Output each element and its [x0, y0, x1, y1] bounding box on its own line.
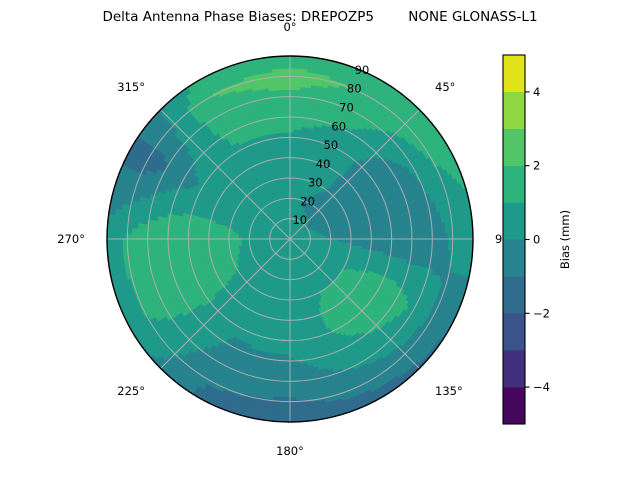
contour-cell	[439, 234, 442, 239]
polar-contour-plot: 0°45°90°135°180°225°270°315° 10203040506…	[0, 0, 640, 480]
contour-cell	[427, 239, 430, 244]
contour-cell	[290, 138, 294, 141]
contour-cell	[290, 80, 296, 83]
contour-cell	[418, 234, 421, 239]
contour-cell	[464, 239, 467, 245]
contour-cell	[290, 68, 296, 71]
contour-cell	[445, 239, 448, 245]
contour-cell	[461, 233, 464, 239]
contour-cell	[290, 59, 296, 62]
contour-cell	[290, 71, 296, 74]
contour-cell	[458, 233, 461, 239]
contour-cell	[445, 233, 448, 239]
contour-cell	[290, 102, 295, 105]
contour-cell	[290, 105, 295, 108]
contour-cell	[415, 239, 418, 243]
contour-cell	[397, 235, 400, 239]
contour-cell	[424, 239, 427, 244]
contour-cell	[290, 93, 295, 96]
contour-cell	[449, 239, 452, 245]
contour-cell	[415, 235, 418, 239]
contour-cell	[461, 239, 464, 245]
contour-cell	[455, 239, 458, 245]
contour-cell	[290, 108, 295, 111]
contour-cell	[394, 235, 397, 239]
contour-cell	[455, 233, 458, 239]
contour-cell	[290, 65, 296, 68]
contour-cell	[290, 87, 295, 90]
contour-cell	[442, 234, 445, 239]
contour-cell	[433, 239, 436, 244]
contour-cell	[436, 234, 439, 239]
contour-cell	[290, 132, 294, 135]
contour-cell	[388, 239, 391, 243]
contour-cell	[403, 235, 406, 239]
contour-cell	[421, 234, 424, 239]
contour-cell	[290, 90, 295, 93]
contour-cell	[290, 141, 293, 144]
contour-cell	[418, 239, 421, 244]
contour-cell	[458, 239, 461, 245]
contour-cell	[449, 233, 452, 239]
contour-cell	[442, 239, 445, 244]
contour-cell	[290, 120, 294, 123]
contour-cell	[467, 233, 470, 239]
contour-cell	[290, 83, 295, 86]
contour-cell	[384, 236, 387, 239]
contour-cell	[290, 123, 294, 126]
contour-cell	[406, 239, 409, 243]
contour-cell	[400, 235, 403, 239]
contour-cell	[290, 77, 296, 80]
figure-canvas: Delta Antenna Phase Biases: DREPOZP5 NON…	[0, 0, 640, 480]
contour-cell	[397, 239, 400, 243]
contour-cell	[427, 234, 430, 239]
contour-cell	[467, 239, 470, 245]
contour-cell	[403, 239, 406, 243]
contour-cell	[433, 234, 436, 239]
contour-cell	[464, 233, 467, 239]
contour-cell	[439, 239, 442, 244]
contour-cell	[290, 111, 294, 114]
contour-cell	[400, 239, 403, 243]
contour-cell	[290, 126, 294, 129]
contour-cell	[394, 239, 397, 243]
contour-cell	[406, 235, 409, 239]
contour-cell	[421, 239, 424, 244]
contour-cell	[388, 235, 391, 239]
contour-cell	[436, 239, 439, 244]
contour-cell	[290, 129, 294, 132]
contour-cell	[290, 99, 295, 102]
contour-cell	[424, 234, 427, 239]
contour-cell	[384, 239, 387, 242]
contour-cell	[290, 62, 296, 65]
